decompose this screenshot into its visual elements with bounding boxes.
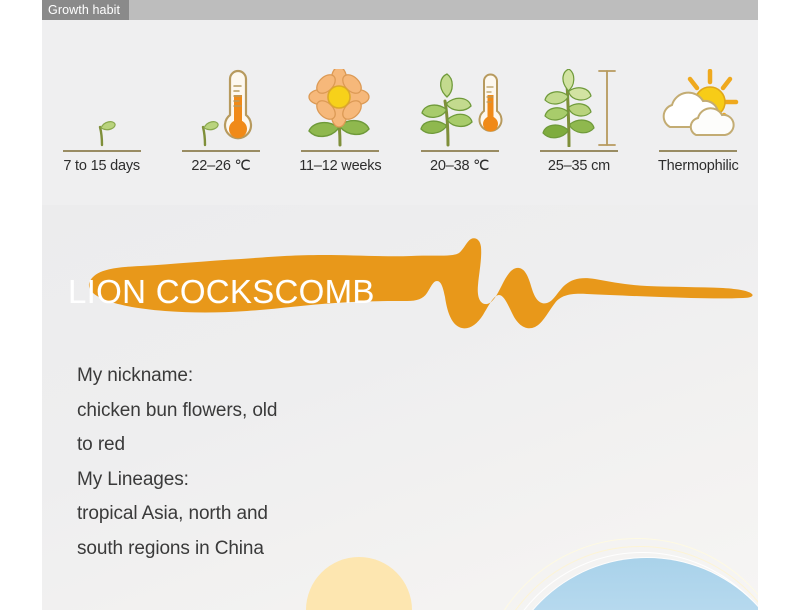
habit-label: 20–38 ℃ <box>430 158 489 174</box>
product-intro-panel: LION COCKSCOMB My nickname: chicken bun … <box>42 205 758 610</box>
ground-rule <box>540 150 618 152</box>
habit-item-growing-temp: 20–38 ℃ <box>400 44 519 174</box>
description-line: chicken bun flowers, old <box>77 394 407 429</box>
habit-label: 7 to 15 days <box>63 158 140 174</box>
ground-rule <box>182 150 260 152</box>
sun-cloud-icon <box>639 69 758 147</box>
sprout-icon <box>42 69 161 147</box>
habit-item-climate: Thermophilic <box>639 44 758 174</box>
habit-item-height: 25–35 cm <box>519 44 638 174</box>
flower-icon <box>281 69 400 147</box>
growth-habit-panel: 7 to 15 days <box>42 20 758 205</box>
habit-label: 22–26 ℃ <box>191 158 250 174</box>
growth-habit-icon-row: 7 to 15 days <box>42 44 758 174</box>
description-line: My Lineages: <box>77 463 407 498</box>
page-title: LION COCKSCOMB <box>68 273 375 311</box>
ground-rule <box>659 150 737 152</box>
habit-label: Thermophilic <box>658 158 739 174</box>
description-line: My nickname: <box>77 359 407 394</box>
ground-rule <box>421 150 499 152</box>
plant-thermometer-icon <box>400 69 519 147</box>
header-bar: Growth habit <box>42 0 758 20</box>
description-line: tropical Asia, north and <box>77 497 407 532</box>
description-block: My nickname: chicken bun flowers, old to… <box>77 359 407 566</box>
habit-item-germination: 7 to 15 days <box>42 44 161 174</box>
photo-decoration-group <box>434 530 758 610</box>
description-line: south regions in China <box>77 532 407 567</box>
habit-label: 11–12 weeks <box>299 158 381 174</box>
red-cockscomb-photo <box>497 558 758 610</box>
description-line: to red <box>77 428 407 463</box>
ground-rule <box>301 150 379 152</box>
plant-height-icon <box>519 69 638 147</box>
sprout-thermometer-icon <box>161 69 280 147</box>
ground-rule <box>63 150 141 152</box>
habit-label: 25–35 cm <box>548 158 610 174</box>
frame-right-margin <box>758 0 800 610</box>
habit-item-flowering: 11–12 weeks <box>281 44 400 174</box>
frame-left-margin <box>0 0 42 610</box>
photo-celosia-plumes <box>497 558 758 610</box>
habit-item-germination-temp: 22–26 ℃ <box>161 44 280 174</box>
header-tab-growth-habit[interactable]: Growth habit <box>42 0 129 20</box>
